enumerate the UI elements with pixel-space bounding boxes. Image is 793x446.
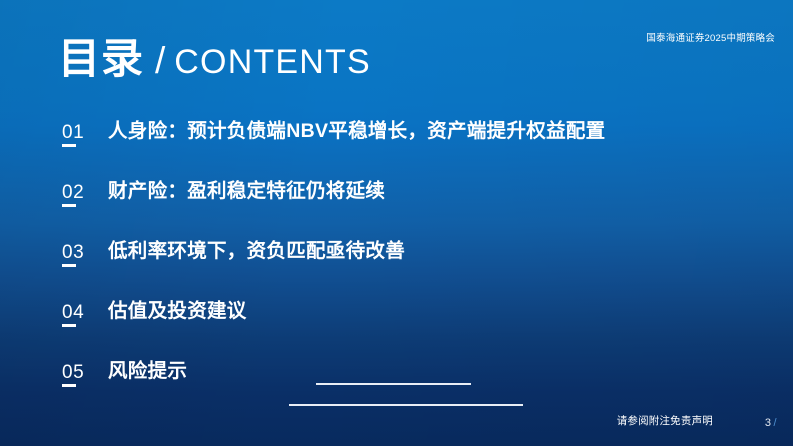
toc-number-underline bbox=[62, 384, 76, 387]
toc-number-underline bbox=[62, 264, 76, 267]
toc-item-number: 03 bbox=[62, 243, 108, 262]
toc-number-wrap: 05 bbox=[62, 360, 108, 382]
toc-item-label: 人身险：预计负债端NBV平稳增长，资产端提升权益配置 bbox=[108, 120, 605, 142]
toc-number-underline bbox=[62, 144, 76, 147]
toc-item-label: 估值及投资建议 bbox=[108, 300, 247, 322]
toc-item-number: 04 bbox=[62, 303, 108, 322]
page-title-separator: / bbox=[155, 42, 165, 79]
toc-item-01[interactable]: 01 人身险：预计负债端NBV平稳增长，资产端提升权益配置 bbox=[62, 120, 762, 180]
page-title: 目录 / CONTENTS bbox=[58, 38, 371, 80]
toc-item-label: 风险提示 bbox=[108, 360, 187, 382]
slide-canvas: 国泰海通证券2025中期策略会 目录 / CONTENTS 01 人身险：预计负… bbox=[0, 0, 793, 446]
toc-item-02[interactable]: 02 财产险：盈利稳定特征仍将延续 bbox=[62, 180, 762, 240]
event-tag: 国泰海通证券2025中期策略会 bbox=[646, 30, 775, 44]
toc-number-wrap: 01 bbox=[62, 120, 108, 142]
page-title-cn: 目录 bbox=[58, 38, 144, 80]
toc-item-04[interactable]: 04 估值及投资建议 bbox=[62, 300, 762, 360]
page-indicator: 3/ bbox=[765, 417, 777, 429]
page-separator: / bbox=[773, 417, 777, 429]
page-title-en: CONTENTS bbox=[174, 45, 371, 79]
table-of-contents: 01 人身险：预计负债端NBV平稳增长，资产端提升权益配置 02 财产险：盈利稳… bbox=[62, 120, 762, 420]
toc-number-underline bbox=[62, 324, 76, 327]
toc-number-wrap: 02 bbox=[62, 180, 108, 202]
toc-number-wrap: 03 bbox=[62, 240, 108, 262]
toc-item-number: 05 bbox=[62, 363, 108, 382]
toc-number-underline bbox=[62, 204, 76, 207]
toc-item-label: 财产险：盈利稳定特征仍将延续 bbox=[108, 180, 385, 202]
toc-number-wrap: 04 bbox=[62, 300, 108, 322]
toc-item-label: 低利率环境下，资负匹配亟待改善 bbox=[108, 240, 405, 262]
page-number: 3 bbox=[765, 417, 772, 429]
toc-item-number: 02 bbox=[62, 183, 108, 202]
toc-item-05[interactable]: 05 风险提示 bbox=[62, 360, 762, 420]
toc-item-number: 01 bbox=[62, 123, 108, 142]
disclaimer-text: 请参阅附注免责声明 bbox=[617, 413, 713, 428]
toc-item-03[interactable]: 03 低利率环境下，资负匹配亟待改善 bbox=[62, 240, 762, 300]
